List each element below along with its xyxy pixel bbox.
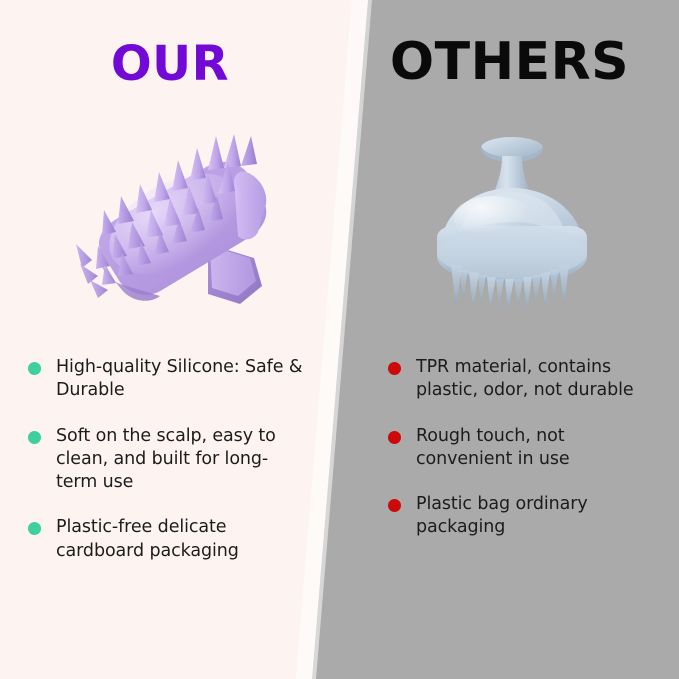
pro-bullet-icon — [28, 522, 41, 535]
con-bullet-icon — [388, 499, 401, 512]
our-benefits-list: High-quality Silicone: Safe & Durable So… — [28, 356, 306, 585]
others-drawbacks-list: TPR material, contains plastic, odor, no… — [388, 356, 660, 562]
list-item-label: Plastic bag ordinary packaging — [416, 493, 660, 540]
pro-bullet-icon — [28, 362, 41, 375]
con-bullet-icon — [388, 362, 401, 375]
list-item: Plastic bag ordinary packaging — [388, 493, 660, 540]
list-item-label: Rough touch, not convenient in use — [416, 425, 660, 472]
others-heading: OTHERS — [340, 32, 679, 92]
our-heading: OUR — [0, 36, 340, 92]
list-item: Plastic-free delicate cardboard packagin… — [28, 516, 306, 563]
list-item: Rough touch, not convenient in use — [388, 425, 660, 472]
list-item: Soft on the scalp, easy to clean, and bu… — [28, 425, 306, 495]
blue-plastic-dome-brush-icon — [415, 130, 610, 315]
list-item-label: Soft on the scalp, easy to clean, and bu… — [56, 425, 306, 495]
comparison-infographic: OUR OTHERS — [0, 0, 679, 679]
list-item-label: TPR material, contains plastic, odor, no… — [416, 356, 660, 403]
list-item-label: High-quality Silicone: Safe & Durable — [56, 356, 306, 403]
list-item: High-quality Silicone: Safe & Durable — [28, 356, 306, 403]
pro-bullet-icon — [28, 431, 41, 444]
con-bullet-icon — [388, 431, 401, 444]
list-item-label: Plastic-free delicate cardboard packagin… — [56, 516, 306, 563]
list-item: TPR material, contains plastic, odor, no… — [388, 356, 660, 403]
purple-silicone-scalp-massager-icon — [58, 118, 288, 318]
